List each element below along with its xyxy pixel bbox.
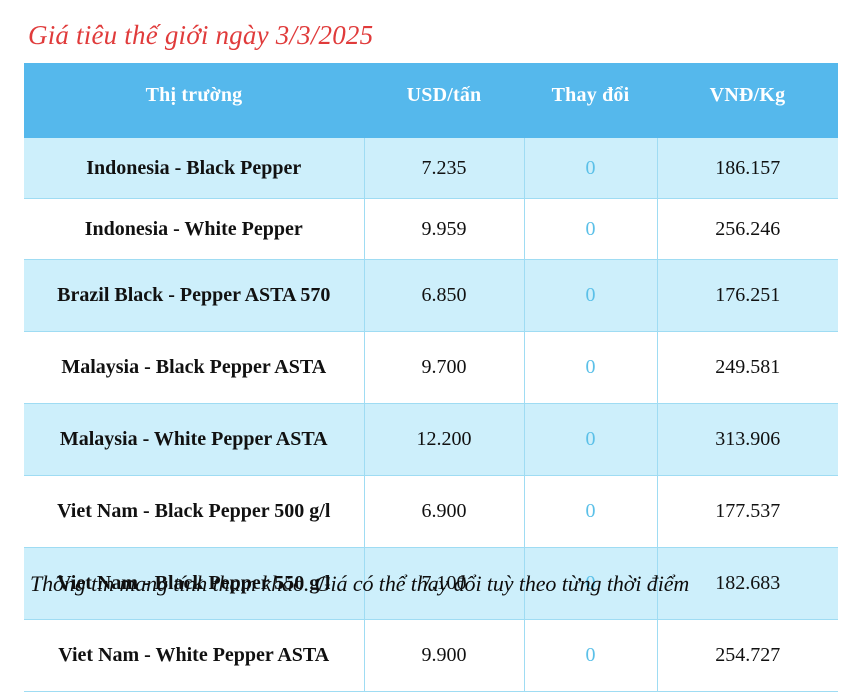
column-header-market: Thị trường: [24, 63, 364, 138]
vnd-price: 249.581: [657, 332, 838, 404]
market-name: Brazil Black - Pepper ASTA 570: [24, 260, 364, 332]
table-header: Thị trường USD/tấn Thay đổi VNĐ/Kg: [24, 63, 838, 138]
disclaimer-note: Thông tin mang tính tham khảo. Giá có th…: [30, 571, 689, 597]
table-row: Viet Nam - White Pepper ASTA 9.900 0 254…: [24, 620, 838, 692]
table-header-row: Thị trường USD/tấn Thay đổi VNĐ/Kg: [24, 63, 838, 138]
price-change: 0: [524, 199, 657, 260]
usd-price: 7.235: [364, 138, 524, 199]
table-row: Indonesia - White Pepper 9.959 0 256.246: [24, 199, 838, 260]
column-header-usd: USD/tấn: [364, 63, 524, 138]
market-name: Viet Nam - Black Pepper 500 g/l: [24, 476, 364, 548]
table-row: Brazil Black - Pepper ASTA 570 6.850 0 1…: [24, 260, 838, 332]
vnd-price: 176.251: [657, 260, 838, 332]
usd-price: 9.700: [364, 332, 524, 404]
market-name: Indonesia - Black Pepper: [24, 138, 364, 199]
table-row: Viet Nam - Black Pepper 500 g/l 6.900 0 …: [24, 476, 838, 548]
market-name: Indonesia - White Pepper: [24, 199, 364, 260]
usd-price: 12.200: [364, 404, 524, 476]
column-header-change: Thay đổi: [524, 63, 657, 138]
vnd-price: 313.906: [657, 404, 838, 476]
price-change: 0: [524, 138, 657, 199]
usd-price: 6.900: [364, 476, 524, 548]
table-row: Indonesia - Black Pepper 7.235 0 186.157: [24, 138, 838, 199]
column-header-vnd: VNĐ/Kg: [657, 63, 838, 138]
price-table-page: Giá tiêu thế giới ngày 3/3/2025 Thị trườ…: [0, 0, 854, 615]
usd-price: 9.900: [364, 620, 524, 692]
price-change: 0: [524, 332, 657, 404]
usd-price: 6.850: [364, 260, 524, 332]
page-title: Giá tiêu thế giới ngày 3/3/2025: [28, 18, 373, 53]
market-name: Malaysia - White Pepper ASTA: [24, 404, 364, 476]
price-change: 0: [524, 404, 657, 476]
table-row: Malaysia - Black Pepper ASTA 9.700 0 249…: [24, 332, 838, 404]
vnd-price: 256.246: [657, 199, 838, 260]
usd-price: 9.959: [364, 199, 524, 260]
price-change: 0: [524, 260, 657, 332]
market-name: Malaysia - Black Pepper ASTA: [24, 332, 364, 404]
table-row: Malaysia - White Pepper ASTA 12.200 0 31…: [24, 404, 838, 476]
price-change: 0: [524, 620, 657, 692]
price-table-container: Thị trường USD/tấn Thay đổi VNĐ/Kg Indon…: [24, 63, 838, 692]
market-name: Viet Nam - White Pepper ASTA: [24, 620, 364, 692]
vnd-price: 186.157: [657, 138, 838, 199]
vnd-price: 254.727: [657, 620, 838, 692]
price-change: 0: [524, 476, 657, 548]
table-body: Indonesia - Black Pepper 7.235 0 186.157…: [24, 138, 838, 692]
vnd-price: 177.537: [657, 476, 838, 548]
world-pepper-price-table: Thị trường USD/tấn Thay đổi VNĐ/Kg Indon…: [24, 63, 838, 692]
